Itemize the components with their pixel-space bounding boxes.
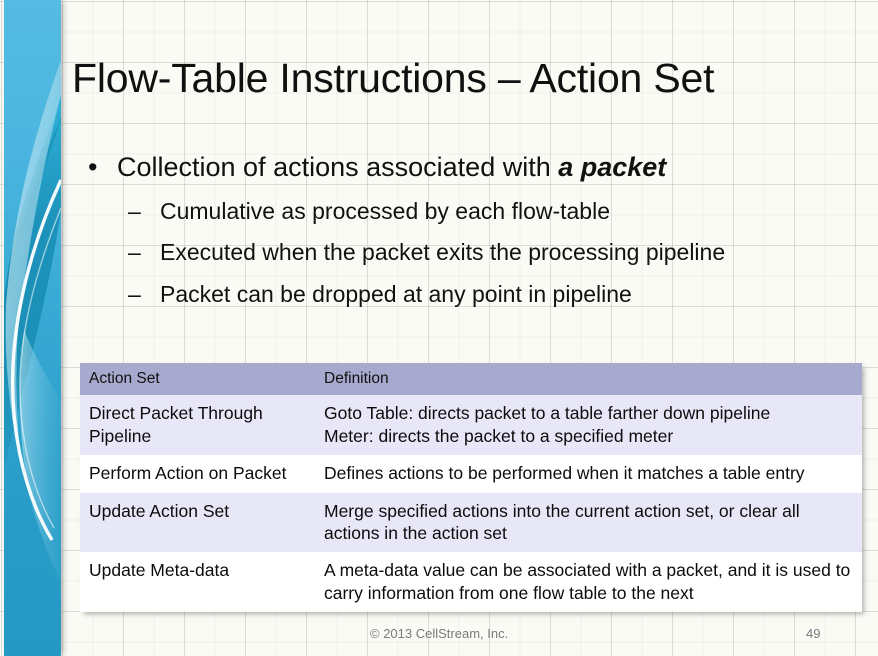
cell-action-set: Direct Packet Through Pipeline <box>80 395 315 455</box>
cell-definition: Goto Table: directs packet to a table fa… <box>315 395 862 455</box>
slide-canvas: Flow-Table Instructions – Action Set •Co… <box>0 0 878 656</box>
table-header-action-set: Action Set <box>80 363 315 395</box>
bullet-level2-3: –Packet can be dropped at any point in p… <box>76 281 866 309</box>
bullet-level2-2: –Executed when the packet exits the proc… <box>76 239 866 267</box>
table-row: Update Action Set Merge specified action… <box>80 493 862 553</box>
slide-body: •Collection of actions associated with a… <box>76 152 866 309</box>
cell-definition: A meta-data value can be associated with… <box>315 552 862 612</box>
table-header-row: Action Set Definition <box>80 363 862 395</box>
decorative-sidebar-band <box>4 0 61 656</box>
cell-action-set: Perform Action on Packet <box>80 455 315 492</box>
footer-page-number: 49 <box>806 626 820 641</box>
bullet-dash-icon: – <box>128 198 141 226</box>
footer-copyright: © 2013 CellStream, Inc. <box>370 626 508 641</box>
cell-definition: Merge specified actions into the current… <box>315 493 862 553</box>
bullet-level1-text: Collection of actions associated with <box>117 152 558 182</box>
table-row: Direct Packet Through Pipeline Goto Tabl… <box>80 395 862 455</box>
bullet-level2-1-text: Cumulative as processed by each flow-tab… <box>160 198 610 224</box>
table-header-definition: Definition <box>315 363 862 395</box>
bullet-level2-1: –Cumulative as processed by each flow-ta… <box>76 198 866 226</box>
bullet-level1: •Collection of actions associated with a… <box>76 152 866 184</box>
bullet-level1-emphasis: a packet <box>558 152 666 182</box>
action-set-table-container: Action Set Definition Direct Packet Thro… <box>80 363 862 612</box>
slide-title: Flow-Table Instructions – Action Set <box>72 56 852 102</box>
bullet-dash-icon: – <box>128 239 141 267</box>
table-row: Update Meta-data A meta-data value can b… <box>80 552 862 612</box>
cell-action-set: Update Meta-data <box>80 552 315 612</box>
bullet-dot-icon: • <box>88 152 97 184</box>
cell-action-set: Update Action Set <box>80 493 315 553</box>
sidebar-swirl-graphic <box>4 0 61 656</box>
bullet-dash-icon: – <box>128 281 141 309</box>
action-set-table: Action Set Definition Direct Packet Thro… <box>80 363 862 612</box>
table-row: Perform Action on Packet Defines actions… <box>80 455 862 492</box>
cell-definition: Defines actions to be performed when it … <box>315 455 862 492</box>
bullet-level2-2-text: Executed when the packet exits the proce… <box>160 239 725 265</box>
bullet-level2-3-text: Packet can be dropped at any point in pi… <box>160 281 632 307</box>
